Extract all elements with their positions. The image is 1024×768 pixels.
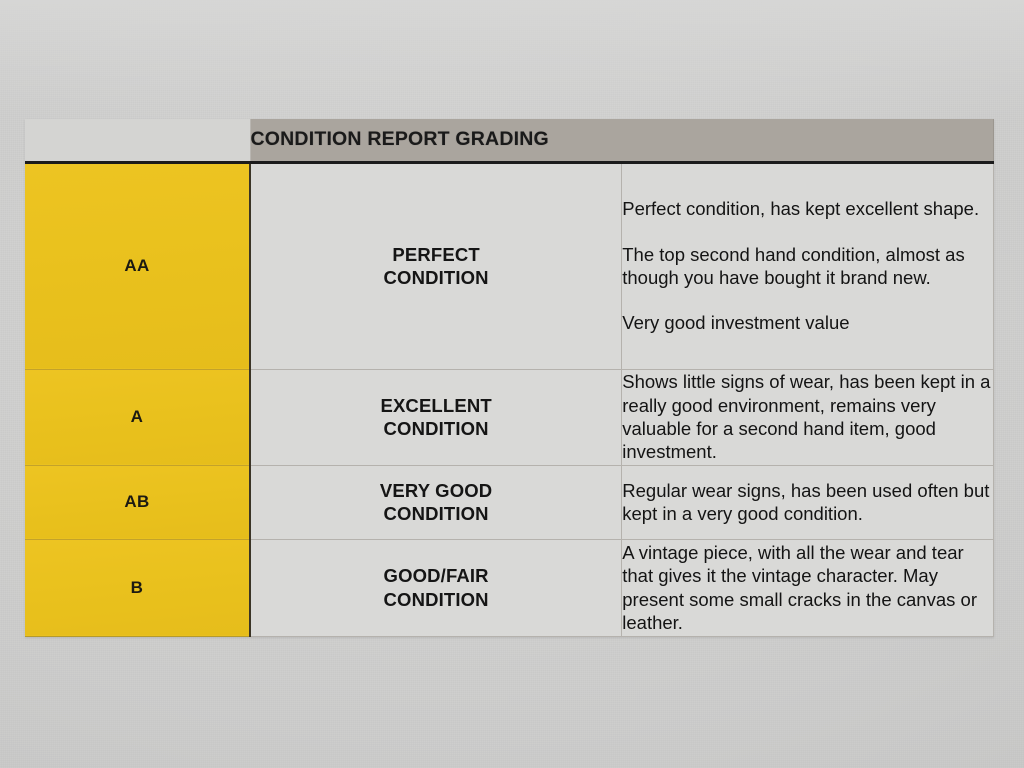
table-header-row: CONDITION REPORT GRADING bbox=[25, 119, 994, 162]
condition-name-line-2: CONDITION bbox=[251, 588, 621, 611]
condition-name-ab: VERY GOOD CONDITION bbox=[250, 465, 622, 539]
header-blank-cell bbox=[25, 119, 250, 162]
grade-badge-a: A bbox=[25, 369, 250, 465]
table-row: AB VERY GOOD CONDITION Regular wear sign… bbox=[25, 465, 994, 539]
condition-name-line-2: CONDITION bbox=[251, 266, 621, 289]
condition-description-ab: Regular wear signs, has been used often … bbox=[622, 465, 994, 539]
condition-name-line-2: CONDITION bbox=[251, 502, 621, 525]
table-header: CONDITION REPORT GRADING bbox=[25, 119, 994, 162]
condition-name-line-1: PERFECT bbox=[251, 243, 621, 266]
description-paragraph: Regular wear signs, has been used often … bbox=[622, 479, 993, 526]
condition-name-b: GOOD/FAIR CONDITION bbox=[250, 539, 622, 636]
condition-name-aa: PERFECT CONDITION bbox=[250, 162, 622, 369]
table-title-cell: CONDITION REPORT GRADING bbox=[250, 119, 994, 162]
description-paragraph: Perfect condition, has kept excellent sh… bbox=[622, 197, 993, 220]
condition-description-a: Shows little signs of wear, has been kep… bbox=[622, 369, 994, 465]
grade-badge-ab: AB bbox=[25, 465, 250, 539]
table-row: A EXCELLENT CONDITION Shows little signs… bbox=[25, 369, 994, 465]
description-paragraph: Shows little signs of wear, has been kep… bbox=[622, 370, 993, 464]
description-paragraph: A vintage piece, with all the wear and t… bbox=[622, 541, 993, 635]
condition-grading-table: CONDITION REPORT GRADING AA PERFECT COND… bbox=[25, 119, 994, 637]
condition-description-b: A vintage piece, with all the wear and t… bbox=[622, 539, 994, 636]
table-body: AA PERFECT CONDITION Perfect condition, … bbox=[25, 162, 994, 636]
table-row: B GOOD/FAIR CONDITION A vintage piece, w… bbox=[25, 539, 994, 636]
condition-name-line-1: EXCELLENT bbox=[251, 394, 621, 417]
description-paragraph: Very good investment value bbox=[622, 311, 993, 334]
grade-badge-b: B bbox=[25, 539, 250, 636]
description-paragraph: The top second hand condition, almost as… bbox=[622, 243, 993, 290]
condition-name-line-2: CONDITION bbox=[251, 417, 621, 440]
condition-description-aa: Perfect condition, has kept excellent sh… bbox=[622, 162, 994, 369]
condition-name-a: EXCELLENT CONDITION bbox=[250, 369, 622, 465]
grade-badge-aa: AA bbox=[25, 162, 250, 369]
condition-name-line-1: VERY GOOD bbox=[251, 479, 621, 502]
table-row: AA PERFECT CONDITION Perfect condition, … bbox=[25, 162, 994, 369]
page-title: CONDITION REPORT GRADING bbox=[251, 128, 549, 150]
condition-name-line-1: GOOD/FAIR bbox=[251, 564, 621, 587]
